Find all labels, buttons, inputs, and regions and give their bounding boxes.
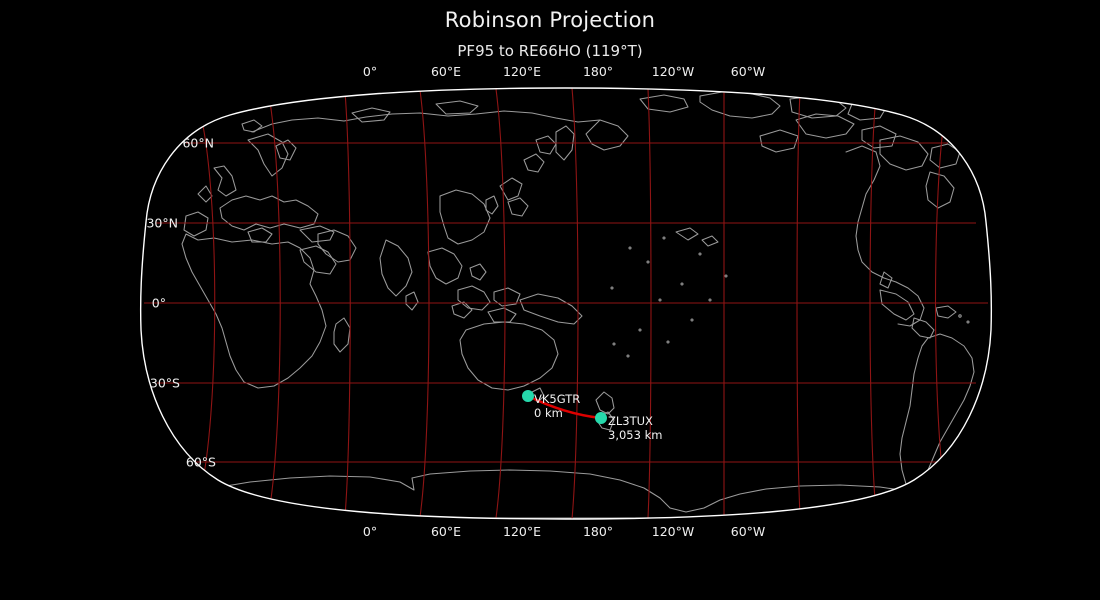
station-marker-origin[interactable] (522, 390, 534, 402)
lat-tick-0: 0° (152, 296, 166, 311)
lon-tick-bottom-60W: 60°W (731, 524, 766, 539)
lat-tick-30S: 30°S (150, 376, 180, 391)
lon-tick-bottom-60E: 60°E (431, 524, 461, 539)
station-label-origin: VK5GTR 0 km (534, 392, 580, 420)
station-distance-origin: 0 km (534, 406, 580, 420)
lon-tick-top-60W: 60°W (731, 64, 766, 79)
lat-tick-30N: 30°N (146, 216, 178, 231)
station-distance-destination: 3,053 km (608, 428, 662, 442)
lon-tick-bottom-120W: 120°W (652, 524, 694, 539)
map-interior (130, 80, 1005, 530)
lon-tick-top-120W: 120°W (652, 64, 694, 79)
lon-tick-bottom-180: 180° (583, 524, 613, 539)
station-marker-destination[interactable] (595, 412, 607, 424)
lat-tick-60N: 60°N (182, 136, 214, 151)
lon-tick-bottom-0: 0° (363, 524, 377, 539)
lat-tick-60S: 60°S (186, 455, 216, 470)
lon-tick-top-180: 180° (583, 64, 613, 79)
lon-tick-bottom-120E: 120°E (503, 524, 541, 539)
lon-tick-top-60E: 60°E (431, 64, 461, 79)
lon-tick-top-0: 0° (363, 64, 377, 79)
lon-tick-top-120E: 120°E (503, 64, 541, 79)
station-label-destination: ZL3TUX 3,053 km (608, 414, 662, 442)
station-callsign-origin: VK5GTR (534, 392, 580, 406)
station-callsign-destination: ZL3TUX (608, 414, 662, 428)
map-figure: Robinson Projection PF95 to RE66HO (119°… (0, 0, 1100, 600)
